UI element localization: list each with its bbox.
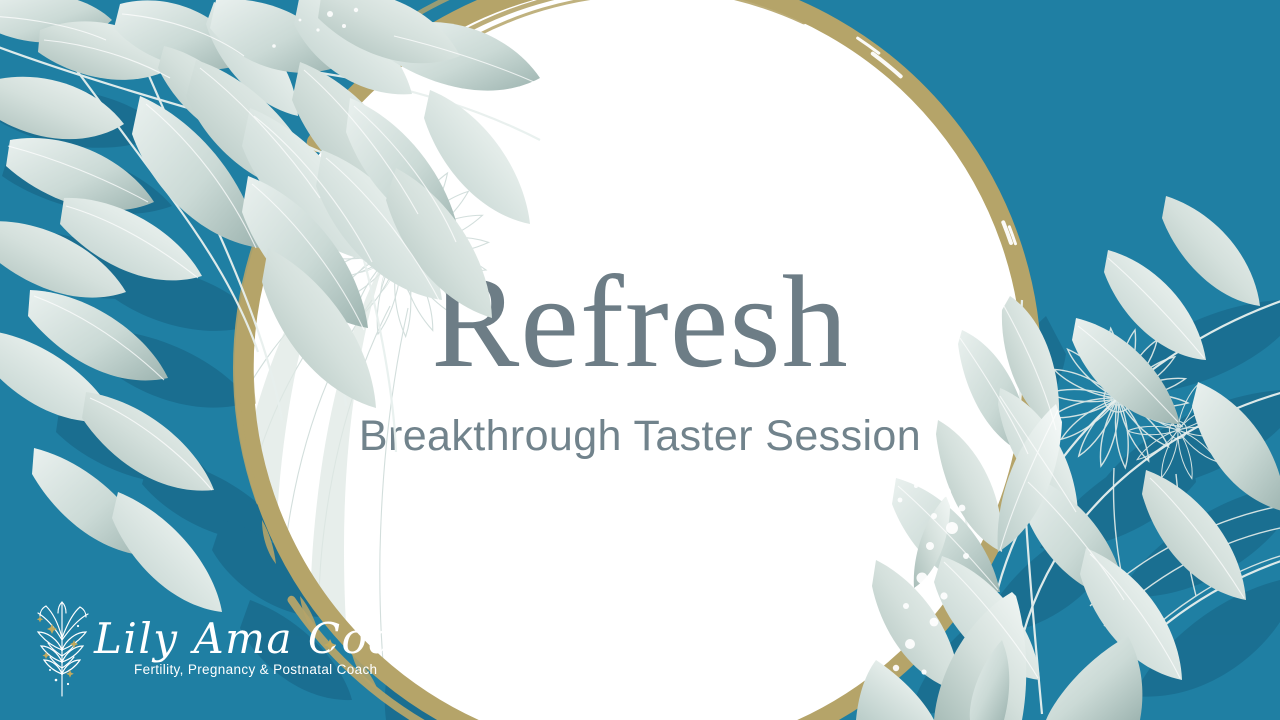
page-title: Refresh (270, 255, 1010, 390)
logo[interactable]: Lily Ama Coaching Fertility, Pregnancy &… (22, 596, 372, 706)
page-subtitle: Breakthrough Taster Session (270, 412, 1010, 461)
text-block: Refresh Breakthrough Taster Session (270, 255, 1010, 461)
star-accent-icon (322, 638, 338, 654)
slide-canvas: Refresh Breakthrough Taster Session (0, 0, 1280, 720)
logo-brand-name: Lily Ama Coaching (94, 614, 520, 663)
botanical-sprig-icon (22, 600, 102, 700)
logo-tagline: Fertility, Pregnancy & Postnatal Coach (134, 662, 377, 677)
